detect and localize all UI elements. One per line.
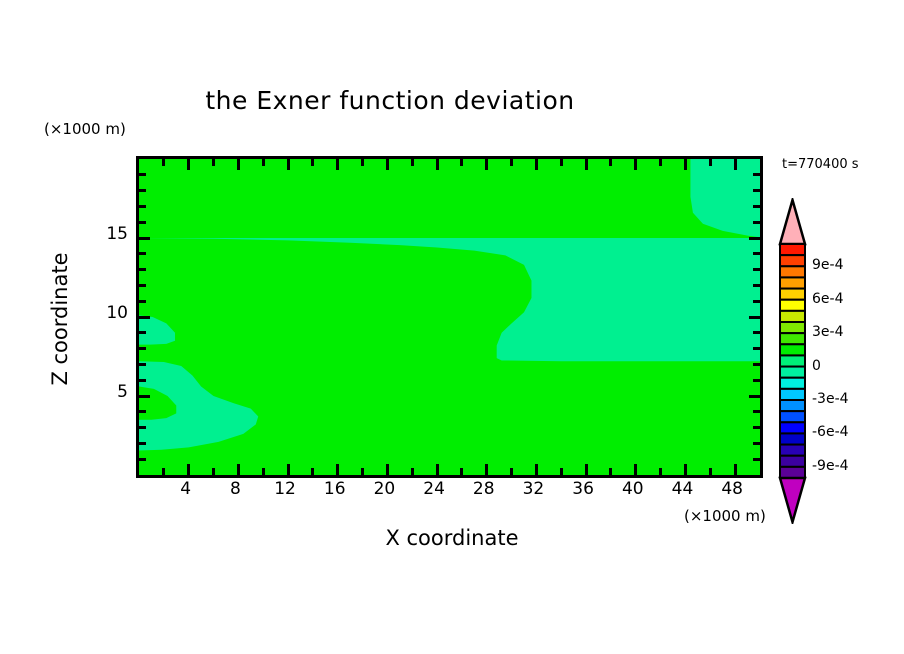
y-tick bbox=[139, 395, 150, 398]
y-tick bbox=[753, 189, 760, 192]
x-tick bbox=[510, 159, 513, 166]
colorbar-swatch bbox=[780, 445, 805, 456]
x-tick bbox=[311, 468, 314, 475]
x-tick bbox=[734, 464, 737, 475]
colorbar-swatches bbox=[776, 198, 810, 524]
x-tick bbox=[585, 464, 588, 475]
y-axis-units-label: (×1000 m) bbox=[44, 120, 126, 138]
y-tick bbox=[139, 442, 146, 445]
x-tick-label: 36 bbox=[563, 479, 603, 499]
x-tick bbox=[585, 159, 588, 170]
colorbar-swatch bbox=[780, 244, 805, 255]
x-tick bbox=[684, 464, 687, 475]
x-tick bbox=[436, 464, 439, 475]
y-tick bbox=[753, 300, 760, 303]
colorbar-swatch bbox=[780, 400, 805, 411]
x-tick-label: 44 bbox=[662, 479, 702, 499]
x-tick bbox=[510, 468, 513, 475]
x-tick bbox=[709, 468, 712, 475]
x-tick bbox=[709, 159, 712, 166]
x-tick bbox=[460, 468, 463, 475]
y-tick bbox=[749, 316, 760, 319]
x-tick-label: 12 bbox=[265, 479, 305, 499]
x-tick-label: 48 bbox=[712, 479, 752, 499]
x-tick-label: 4 bbox=[166, 479, 206, 499]
y-tick-label: 15 bbox=[90, 224, 128, 244]
x-tick bbox=[187, 159, 190, 170]
y-tick bbox=[139, 221, 146, 224]
colorbar-tick-label: 3e-4 bbox=[812, 324, 843, 340]
x-tick bbox=[634, 464, 637, 475]
y-tick bbox=[753, 221, 760, 224]
colorbar-swatch bbox=[780, 311, 805, 322]
y-tick bbox=[753, 268, 760, 271]
colorbar-tick-label: 9e-4 bbox=[812, 257, 843, 273]
colorbar bbox=[776, 198, 810, 524]
x-axis-units-label: (×1000 m) bbox=[684, 507, 766, 525]
y-tick bbox=[139, 284, 146, 287]
colorbar-swatch bbox=[780, 277, 805, 288]
x-tick bbox=[734, 159, 737, 170]
x-tick bbox=[162, 159, 165, 166]
x-tick bbox=[659, 159, 662, 166]
time-annotation: t=770400 s bbox=[782, 157, 859, 172]
x-tick bbox=[262, 468, 265, 475]
y-tick bbox=[753, 347, 760, 350]
colorbar-swatch bbox=[780, 344, 805, 355]
x-tick bbox=[535, 159, 538, 170]
y-tick bbox=[753, 363, 760, 366]
x-tick bbox=[187, 464, 190, 475]
x-tick bbox=[485, 159, 488, 170]
y-tick bbox=[139, 347, 146, 350]
y-tick bbox=[753, 205, 760, 208]
y-tick bbox=[139, 410, 146, 413]
y-tick bbox=[753, 331, 760, 334]
y-tick-label: 10 bbox=[90, 303, 128, 323]
colorbar-swatch bbox=[780, 456, 805, 467]
x-tick-label: 16 bbox=[315, 479, 355, 499]
y-tick bbox=[139, 300, 146, 303]
y-tick bbox=[139, 205, 146, 208]
colorbar-over-arrow bbox=[780, 200, 805, 244]
colorbar-swatch bbox=[780, 255, 805, 266]
y-tick bbox=[139, 268, 146, 271]
colorbar-tick-label: 6e-4 bbox=[812, 291, 843, 307]
y-tick bbox=[139, 189, 146, 192]
x-tick bbox=[560, 159, 563, 166]
colorbar-under-arrow bbox=[780, 478, 805, 522]
colorbar-swatch bbox=[780, 322, 805, 333]
x-tick-label: 24 bbox=[414, 479, 454, 499]
x-tick bbox=[237, 159, 240, 170]
x-tick bbox=[411, 159, 414, 166]
x-tick bbox=[336, 159, 339, 170]
x-tick bbox=[460, 159, 463, 166]
y-tick bbox=[753, 252, 760, 255]
colorbar-tick-label: -3e-4 bbox=[812, 391, 849, 407]
y-tick bbox=[753, 410, 760, 413]
y-tick bbox=[753, 173, 760, 176]
x-tick bbox=[212, 159, 215, 166]
x-tick bbox=[361, 468, 364, 475]
x-tick bbox=[634, 159, 637, 170]
y-tick bbox=[139, 458, 146, 461]
y-tick bbox=[753, 426, 760, 429]
y-tick bbox=[749, 237, 760, 240]
x-tick bbox=[237, 464, 240, 475]
x-tick bbox=[311, 159, 314, 166]
y-axis-title: Z coordinate bbox=[48, 199, 72, 439]
x-tick-label: 28 bbox=[464, 479, 504, 499]
x-tick bbox=[684, 159, 687, 170]
colorbar-swatch bbox=[780, 411, 805, 422]
y-tick bbox=[139, 363, 146, 366]
colorbar-swatch bbox=[780, 433, 805, 444]
y-tick bbox=[139, 237, 150, 240]
colorbar-tick-label: -6e-4 bbox=[812, 424, 849, 440]
x-tick bbox=[485, 464, 488, 475]
colorbar-swatch bbox=[780, 289, 805, 300]
colorbar-swatch bbox=[780, 467, 805, 478]
x-tick bbox=[609, 159, 612, 166]
x-tick bbox=[560, 468, 563, 475]
y-tick bbox=[753, 458, 760, 461]
y-tick bbox=[139, 331, 146, 334]
x-tick bbox=[411, 468, 414, 475]
colorbar-swatch bbox=[780, 378, 805, 389]
x-tick-label: 40 bbox=[613, 479, 653, 499]
y-tick bbox=[139, 316, 150, 319]
y-tick-label: 5 bbox=[90, 382, 128, 402]
x-axis-title: X coordinate bbox=[0, 526, 904, 550]
y-tick bbox=[753, 284, 760, 287]
x-tick bbox=[287, 159, 290, 170]
colorbar-swatch bbox=[780, 422, 805, 433]
colorbar-swatch bbox=[780, 333, 805, 344]
x-tick bbox=[386, 159, 389, 170]
plot-area bbox=[136, 156, 763, 478]
x-tick bbox=[609, 468, 612, 475]
y-tick bbox=[139, 252, 146, 255]
page-title: the Exner function deviation bbox=[0, 86, 780, 115]
colorbar-swatch bbox=[780, 367, 805, 378]
x-tick bbox=[386, 464, 389, 475]
colorbar-tick-label: -9e-4 bbox=[812, 458, 849, 474]
y-tick bbox=[139, 426, 146, 429]
colorbar-swatch bbox=[780, 300, 805, 311]
y-tick bbox=[139, 173, 146, 176]
x-tick-label: 20 bbox=[364, 479, 404, 499]
x-tick bbox=[162, 468, 165, 475]
y-tick bbox=[753, 442, 760, 445]
y-tick bbox=[749, 395, 760, 398]
x-tick bbox=[336, 464, 339, 475]
x-tick-label: 32 bbox=[513, 479, 553, 499]
x-tick bbox=[262, 159, 265, 166]
x-tick bbox=[535, 464, 538, 475]
colorbar-swatch bbox=[780, 389, 805, 400]
contour-field bbox=[139, 159, 760, 475]
x-tick bbox=[361, 159, 364, 166]
y-tick bbox=[139, 379, 146, 382]
x-tick bbox=[212, 468, 215, 475]
y-tick bbox=[753, 379, 760, 382]
x-tick bbox=[436, 159, 439, 170]
colorbar-swatch bbox=[780, 355, 805, 366]
x-tick bbox=[287, 464, 290, 475]
colorbar-swatch bbox=[780, 266, 805, 277]
x-tick bbox=[659, 468, 662, 475]
x-tick-label: 8 bbox=[215, 479, 255, 499]
figure-root: the Exner function deviation (×1000 m) (… bbox=[0, 0, 904, 654]
colorbar-tick-label: 0 bbox=[812, 358, 821, 374]
